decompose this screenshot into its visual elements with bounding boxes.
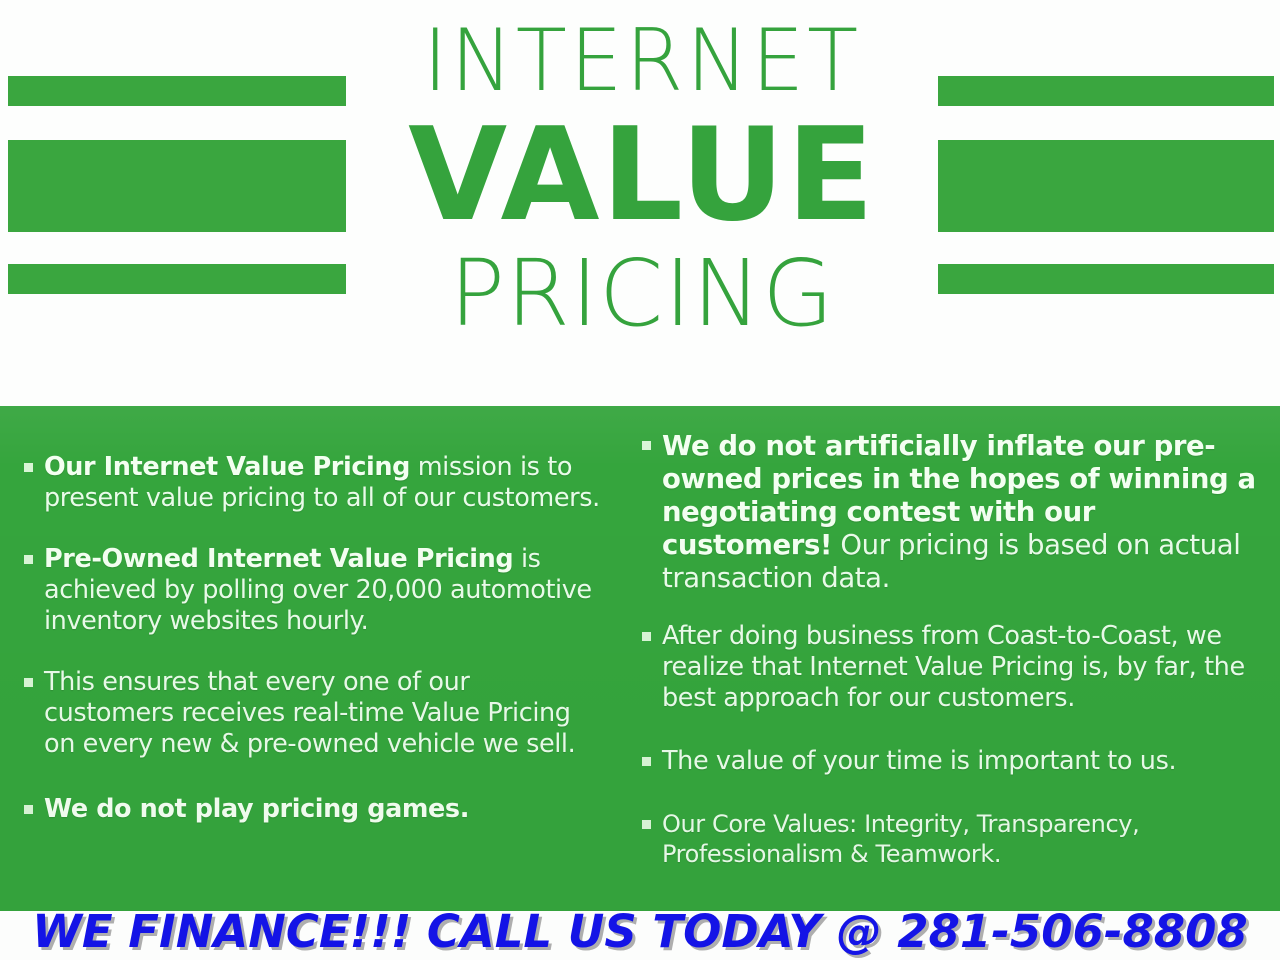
logo-wordmark: INTERNET VALUE PRICING (350, 0, 934, 380)
bullet-list-right: We do not artificially inflate our pre-o… (640, 430, 1268, 869)
bullet-rest: This ensures that every one of our custo… (44, 667, 575, 759)
logo-line-internet: INTERNET (359, 18, 925, 104)
decorative-bar-right-top (938, 76, 1274, 106)
list-item: This ensures that every one of our custo… (22, 667, 602, 760)
finance-call-banner-text: WE FINANCE!!! CALL US TODAY @ 281-506-88… (0, 903, 1280, 960)
bullet-column-right: We do not artificially inflate our pre-o… (640, 406, 1268, 869)
list-item: After doing business from Coast-to-Coast… (640, 621, 1268, 714)
bullet-rest: After doing business from Coast-to-Coast… (662, 621, 1245, 713)
bullet-rest: The value of your time is important to u… (662, 746, 1176, 776)
finance-call-banner: WE FINANCE!!! CALL US TODAY @ 281-506-88… (0, 903, 1280, 960)
bullet-bold-lead: Pre-Owned Internet Value Pricing (44, 544, 513, 574)
bullet-bold-lead: Our Internet Value Pricing (44, 452, 410, 482)
bullet-rest: Our Core Values: Integrity, Transparency… (662, 810, 1139, 868)
list-item: Our Core Values: Integrity, Transparency… (640, 809, 1268, 869)
list-item: The value of your time is important to u… (640, 746, 1268, 777)
logo-line-value: VALUE (350, 112, 934, 240)
decorative-bar-left-middle (8, 140, 346, 232)
list-item: Pre-Owned Internet Value Pricing is achi… (22, 544, 602, 637)
bullet-bold-lead: We do not play pricing games. (44, 794, 469, 824)
logo-line-pricing: PRICING (350, 248, 934, 340)
decorative-bar-left-bottom (8, 264, 346, 294)
decorative-bar-left-top (8, 76, 346, 106)
internet-value-pricing-flyer: INTERNET VALUE PRICING Our Internet Valu… (0, 0, 1280, 960)
list-item: We do not play pricing games. (22, 794, 602, 825)
bullet-column-left: Our Internet Value Pricing mission is to… (22, 406, 602, 825)
list-item: Our Internet Value Pricing mission is to… (22, 452, 602, 514)
list-item: We do not artificially inflate our pre-o… (640, 430, 1268, 595)
logo-header: INTERNET VALUE PRICING (0, 0, 1280, 408)
value-pricing-statement-panel: Our Internet Value Pricing mission is to… (0, 406, 1280, 911)
bullet-list-left: Our Internet Value Pricing mission is to… (22, 452, 602, 825)
decorative-bar-right-bottom (938, 264, 1274, 294)
decorative-bar-right-middle (938, 140, 1274, 232)
